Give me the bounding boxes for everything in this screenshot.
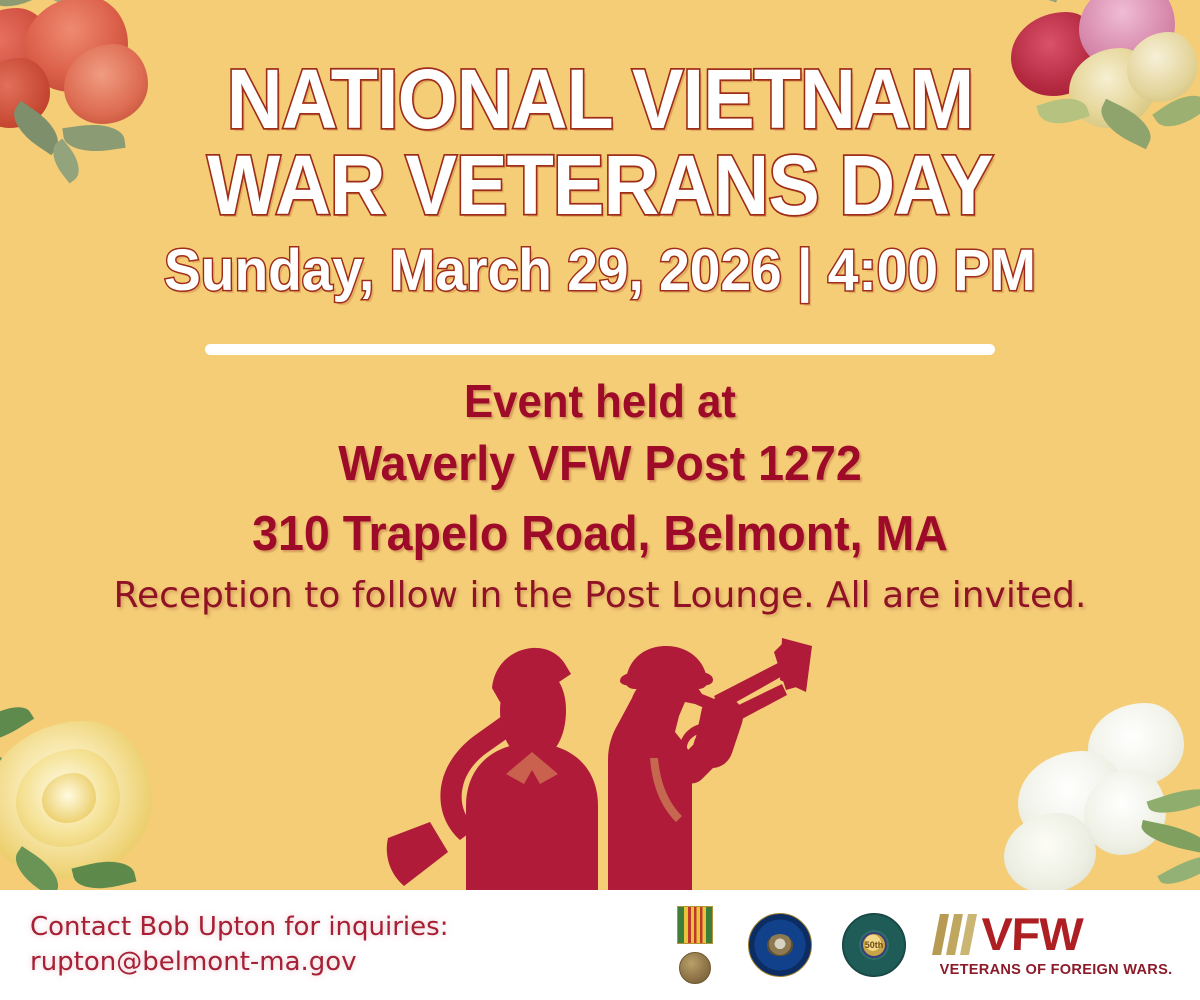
venue-name: Waverly VFW Post 1272 xyxy=(30,428,1170,502)
poster-title-line-2: WAR VETERANS DAY xyxy=(48,144,1152,226)
divider-bar xyxy=(205,344,995,355)
venue-block: Event held at Waverly VFW Post 1272 310 … xyxy=(0,374,1200,566)
vfw-tagline: VETERANS OF FOREIGN WARS. xyxy=(940,961,1173,978)
vfw-logo: VFW VETERANS OF FOREIGN WARS. xyxy=(936,913,1176,978)
vfw-wordmark: VFW xyxy=(980,914,1083,955)
medal-disc xyxy=(679,952,711,984)
vfw-bar-3 xyxy=(960,914,977,955)
vietnam-service-medal-icon xyxy=(672,906,718,984)
poster-title-line-1: NATIONAL VIETNAM xyxy=(48,58,1152,140)
footer-bar: Contact Bob Upton for inquiries: rupton@… xyxy=(0,890,1200,1000)
logo-row: 50th VFW VETERANS OF FOREIGN WARS. xyxy=(672,906,1182,984)
reception-note: Reception to follow in the Post Lounge. … xyxy=(0,575,1200,616)
floral-bottom-right-white-flowers xyxy=(992,695,1200,910)
vietnam-war-commemoration-seal-icon: 50th xyxy=(842,913,906,977)
floral-bottom-left-yellow-rose xyxy=(0,693,191,908)
medal-ribbon xyxy=(677,906,713,944)
contact-email[interactable]: rupton@belmont-ma.gov xyxy=(30,945,448,980)
venue-intro-text: Event held at xyxy=(30,374,1170,428)
dod-eagle-icon xyxy=(767,934,793,956)
saluting-soldier-and-bugler-silhouette xyxy=(370,636,840,892)
department-of-defense-seal-icon xyxy=(748,913,812,977)
vfw-mark: VFW xyxy=(936,913,1081,957)
headline-block: NATIONAL VIETNAM WAR VETERANS DAY Sunday… xyxy=(0,58,1200,302)
contact-block: Contact Bob Upton for inquiries: rupton@… xyxy=(30,910,448,979)
event-datetime: Sunday, March 29, 2026 | 4:00 PM xyxy=(30,241,1170,302)
contact-line-1: Contact Bob Upton for inquiries: xyxy=(30,910,448,945)
commemoration-50th-text: 50th xyxy=(861,932,887,958)
event-poster: NATIONAL VIETNAM WAR VETERANS DAY Sunday… xyxy=(0,0,1200,1000)
venue-address: 310 Trapelo Road, Belmont, MA xyxy=(30,502,1170,567)
